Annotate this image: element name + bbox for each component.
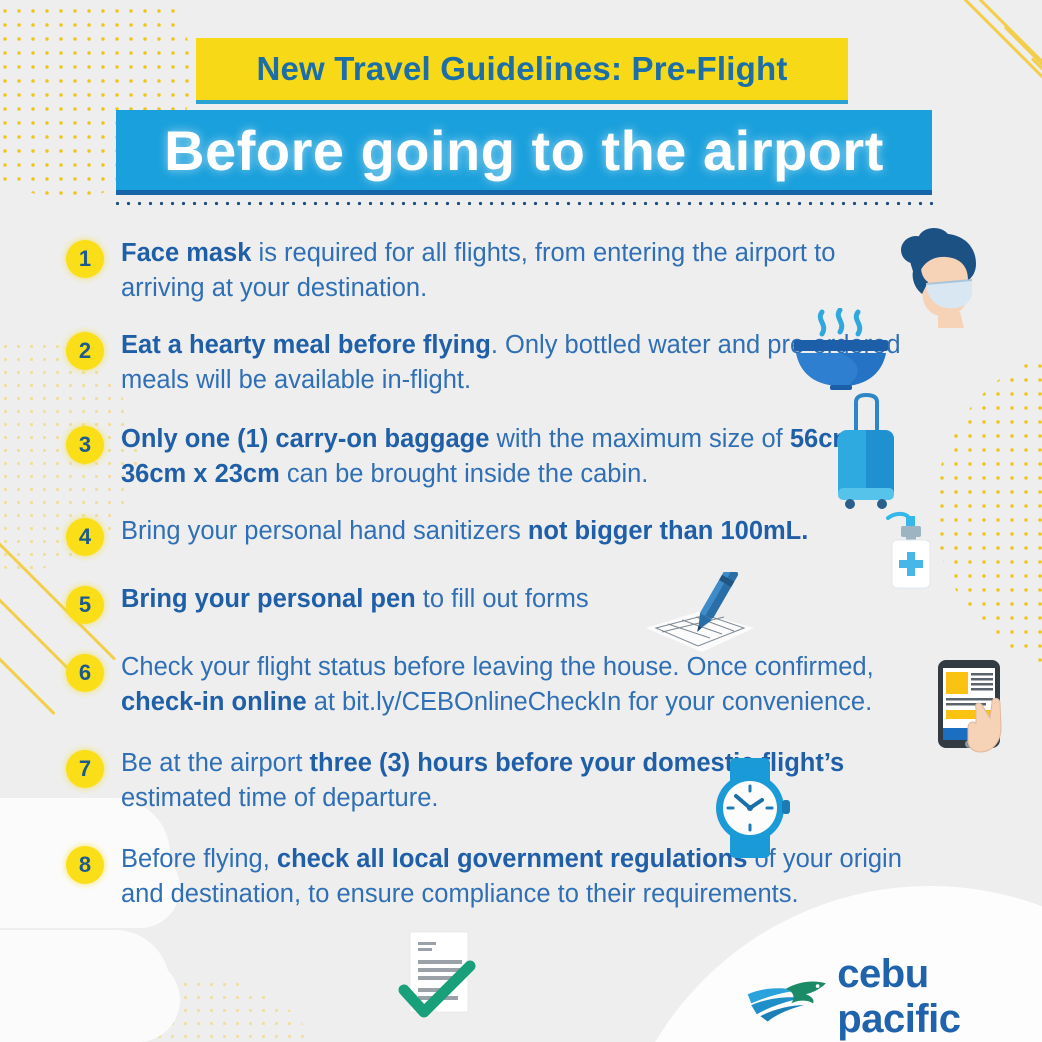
guideline-number-badge: 4	[66, 518, 104, 556]
guideline-text-plain: Bring your personal hand sanitizers	[121, 517, 528, 545]
guideline-text-plain: to fill out forms	[416, 585, 589, 613]
guideline-text: Face mask is required for all flights, f…	[121, 236, 921, 306]
guideline-number-badge: 6	[66, 654, 104, 692]
guideline-number-badge: 1	[66, 240, 104, 278]
guideline-item-4: 4Bring your personal hand sanitizers not…	[66, 514, 966, 556]
guideline-text-plain: estimated time of departure.	[121, 784, 439, 812]
guideline-text-emphasis: not bigger than 100mL.	[528, 517, 809, 545]
guideline-text: Only one (1) carry-on baggage with the m…	[121, 422, 921, 492]
page-title-band: New Travel Guidelines: Pre-Flight	[196, 38, 848, 100]
guideline-item-8: 8Before flying, check all local governme…	[66, 842, 966, 912]
guideline-text-plain: at bit.ly/CEBOnlineCheckIn for your conv…	[307, 688, 873, 716]
guideline-text-emphasis: three (3) hours before your domestic fli…	[310, 749, 845, 777]
guideline-text: Eat a hearty meal before flying. Only bo…	[121, 328, 921, 398]
guideline-number-badge: 3	[66, 426, 104, 464]
yellow-diagonal-lines-top-right-decoration	[930, 10, 1042, 200]
guideline-text: Be at the airport three (3) hours before…	[121, 746, 921, 816]
guideline-text: Check your flight status before leaving …	[121, 650, 921, 720]
page-title: New Travel Guidelines: Pre-Flight	[256, 50, 787, 88]
guideline-text-emphasis: check all local government regulations	[277, 845, 747, 873]
title-underline	[196, 100, 848, 104]
guideline-number-badge: 7	[66, 750, 104, 788]
cebu-pacific-bird-icon	[744, 966, 831, 1028]
guideline-text-emphasis: Eat a hearty meal before flying	[121, 331, 491, 359]
guideline-item-2: 2Eat a hearty meal before flying. Only b…	[66, 328, 966, 398]
guideline-text-plain: Be at the airport	[121, 749, 310, 777]
guideline-item-1: 1Face mask is required for all flights, …	[66, 236, 966, 306]
dotted-divider	[112, 198, 938, 210]
guideline-text-emphasis: check-in online	[121, 688, 307, 716]
guideline-text: Before flying, check all local governmen…	[121, 842, 921, 912]
guideline-text-plain: can be brought inside the cabin.	[280, 460, 649, 488]
cebu-pacific-logo: cebu pacific	[744, 952, 1042, 1042]
page-subtitle: Before going to the airport	[164, 118, 884, 183]
document-check-icon	[396, 928, 480, 1029]
guideline-text-emphasis: Face mask	[121, 239, 251, 267]
guideline-text-emphasis: Only one (1) carry-on baggage	[121, 425, 489, 453]
logo-wordmark: cebu pacific	[837, 952, 1042, 1042]
guideline-number-badge: 5	[66, 586, 104, 624]
guideline-item-7: 7Be at the airport three (3) hours befor…	[66, 746, 966, 816]
page-subtitle-band: Before going to the airport	[116, 110, 932, 190]
guideline-number-badge: 2	[66, 332, 104, 370]
guideline-item-3: 3Only one (1) carry-on baggage with the …	[66, 422, 966, 492]
guideline-text-plain: with the maximum size of	[489, 425, 789, 453]
guideline-text: Bring your personal pen to fill out form…	[121, 582, 589, 617]
guideline-text-plain: Before flying,	[121, 845, 277, 873]
guideline-text-plain: Check your flight status before leaving …	[121, 653, 874, 681]
subtitle-underline	[116, 190, 932, 195]
guidelines-list: 1Face mask is required for all flights, …	[66, 236, 966, 926]
yellow-dot-circle-bottom-decoration	[88, 978, 328, 1042]
guideline-number-badge: 8	[66, 846, 104, 884]
infographic-poster: New Travel Guidelines: Pre-Flight Before…	[0, 0, 1042, 1042]
guideline-text-emphasis: Bring your personal pen	[121, 585, 416, 613]
guideline-text: Bring your personal hand sanitizers not …	[121, 514, 808, 549]
guideline-item-6: 6Check your flight status before leaving…	[66, 650, 966, 720]
guideline-item-5: 5Bring your personal pen to fill out for…	[66, 582, 966, 624]
